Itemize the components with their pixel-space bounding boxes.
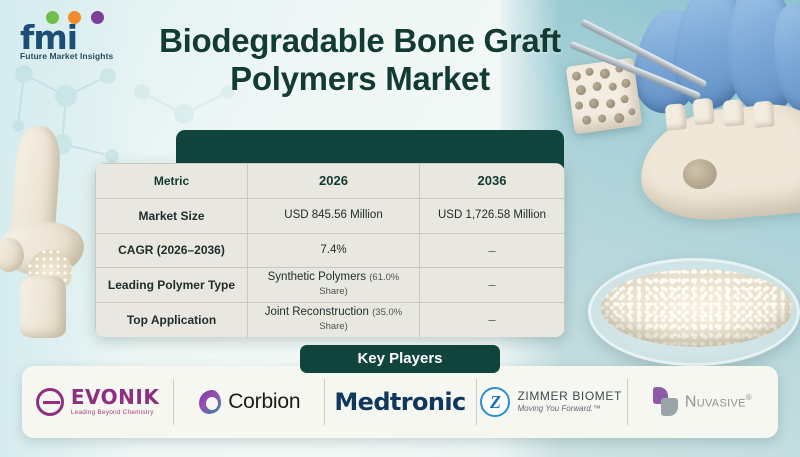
key-players-panel: EVONIK Leading Beyond Chemistry Corbion …: [22, 366, 778, 438]
cell-cagr-2026: 7.4%: [248, 233, 420, 268]
petri-dish-granules: [588, 258, 800, 366]
evonik-logo-icon: [36, 388, 64, 416]
table-header-row: Metric 2026 2036: [96, 164, 565, 199]
value-text: Synthetic Polymers: [268, 271, 366, 283]
evonik-name: EVONIK: [71, 387, 159, 407]
key-player-zimmer-biomet[interactable]: Z ZIMMER BIOMET Moving You Forward.™: [476, 375, 627, 429]
page-title: Biodegradable Bone Graft Polymers Market: [150, 22, 570, 97]
key-player-nuvasive[interactable]: Nuvasive®: [627, 375, 778, 429]
corbion-logo-icon: [197, 388, 223, 416]
logo-dot-purple: [91, 11, 104, 24]
cell-cagr-2036: –: [420, 233, 565, 268]
table-row: Top Application Joint Reconstruction (35…: [96, 303, 565, 337]
cell-leading-polymer-type-2036: –: [420, 268, 565, 303]
key-player-medtronic[interactable]: Medtronic: [324, 375, 475, 429]
column-header-2026: 2026: [248, 164, 420, 199]
row-label-cagr: CAGR (2026–2036): [96, 233, 248, 268]
column-header-metric: Metric: [96, 164, 248, 199]
key-player-corbion[interactable]: Corbion: [173, 375, 324, 429]
metrics-table: Metric 2026 2036 Market Size USD 845.56 …: [95, 163, 565, 337]
knee-bone-illustration: [0, 126, 100, 338]
cell-top-application-2026: Joint Reconstruction (35.0% Share): [248, 303, 420, 337]
title-line-2: Polymers Market: [150, 60, 570, 98]
table-row: Leading Polymer Type Synthetic Polymers …: [96, 268, 565, 303]
infographic-canvas: fmi Future Market Insights Biodegradable…: [0, 0, 800, 457]
table-row: Market Size USD 845.56 Million USD 1,726…: [96, 198, 565, 233]
nuvasive-logo-icon: [653, 387, 679, 417]
corbion-name: Corbion: [228, 390, 300, 414]
value-text: Joint Reconstruction: [265, 306, 369, 318]
cell-market-size-2026: USD 845.56 Million: [248, 198, 420, 233]
row-label-market-size: Market Size: [96, 198, 248, 233]
evonik-tagline: Leading Beyond Chemistry: [71, 410, 159, 417]
row-label-leading-polymer-type: Leading Polymer Type: [96, 268, 248, 303]
zimmer-biomet-tagline: Moving You Forward.™: [517, 405, 621, 414]
table-row: CAGR (2026–2036) 7.4% –: [96, 233, 565, 268]
cell-leading-polymer-type-2026: Synthetic Polymers (61.0% Share): [248, 268, 420, 303]
medtronic-name: Medtronic: [334, 388, 465, 416]
row-label-top-application: Top Application: [96, 303, 248, 337]
metrics-table-container: Metric 2026 2036 Market Size USD 845.56 …: [95, 163, 565, 337]
zimmer-biomet-name: ZIMMER BIOMET: [517, 390, 621, 403]
key-player-evonik[interactable]: EVONIK Leading Beyond Chemistry: [22, 375, 173, 429]
key-players-badge: Key Players: [300, 345, 500, 373]
column-header-2036: 2036: [420, 164, 565, 199]
title-line-1: Biodegradable Bone Graft: [150, 22, 570, 60]
nuvasive-name: Nuvasive®: [685, 393, 752, 411]
zimmer-biomet-logo-icon: Z: [480, 387, 510, 417]
fmi-logo[interactable]: fmi Future Market Insights: [12, 10, 137, 62]
cell-top-application-2036: –: [420, 303, 565, 337]
cell-market-size-2036: USD 1,726.58 Million: [420, 198, 565, 233]
logo-tagline: Future Market Insights: [20, 51, 113, 61]
